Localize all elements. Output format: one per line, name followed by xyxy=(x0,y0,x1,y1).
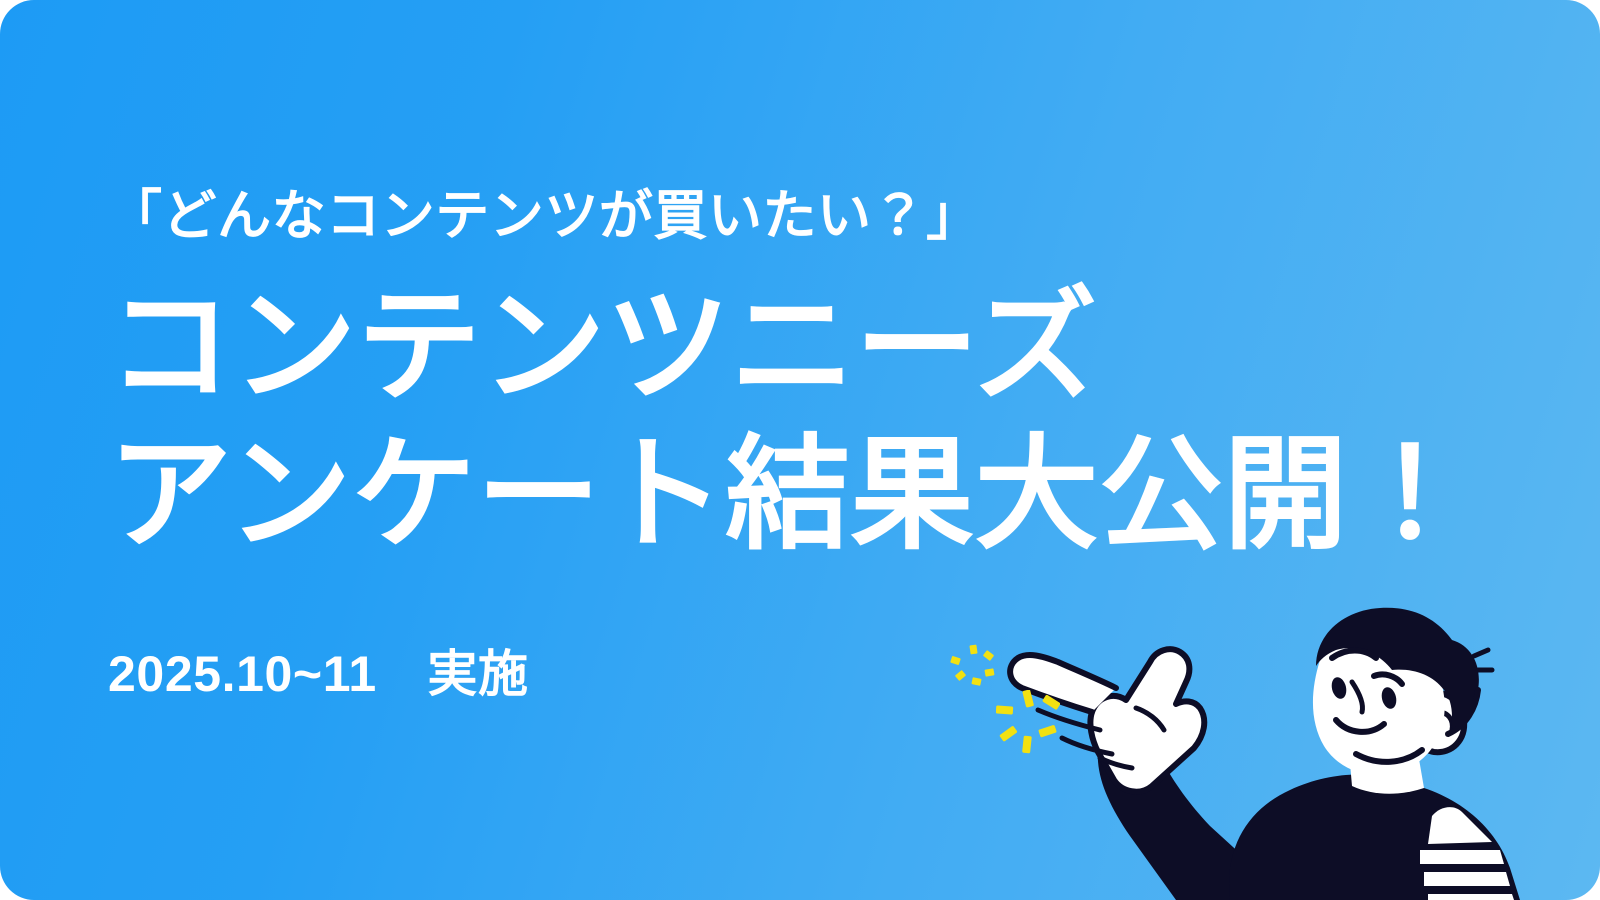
headline-line-2: アンケート結果大公開！ xyxy=(108,422,1508,570)
headline-line-1: コンテンツニーズ xyxy=(108,274,1508,422)
promo-banner: 「どんなコンテンツが買いたい？」 コンテンツニーズ アンケート結果大公開！ 20… xyxy=(0,0,1600,900)
survey-period-text: 2025.10~11 実施 xyxy=(108,634,1508,706)
page-title: コンテンツニーズ アンケート結果大公開！ xyxy=(108,274,1508,569)
resting-hand xyxy=(1420,807,1514,900)
banner-subtitle: 「どんなコンテンツが買いたい？」 xyxy=(108,186,1508,246)
banner-text-block: 「どんなコンテンツが買いたい？」 コンテンツニーズ アンケート結果大公開！ 20… xyxy=(108,186,1508,706)
